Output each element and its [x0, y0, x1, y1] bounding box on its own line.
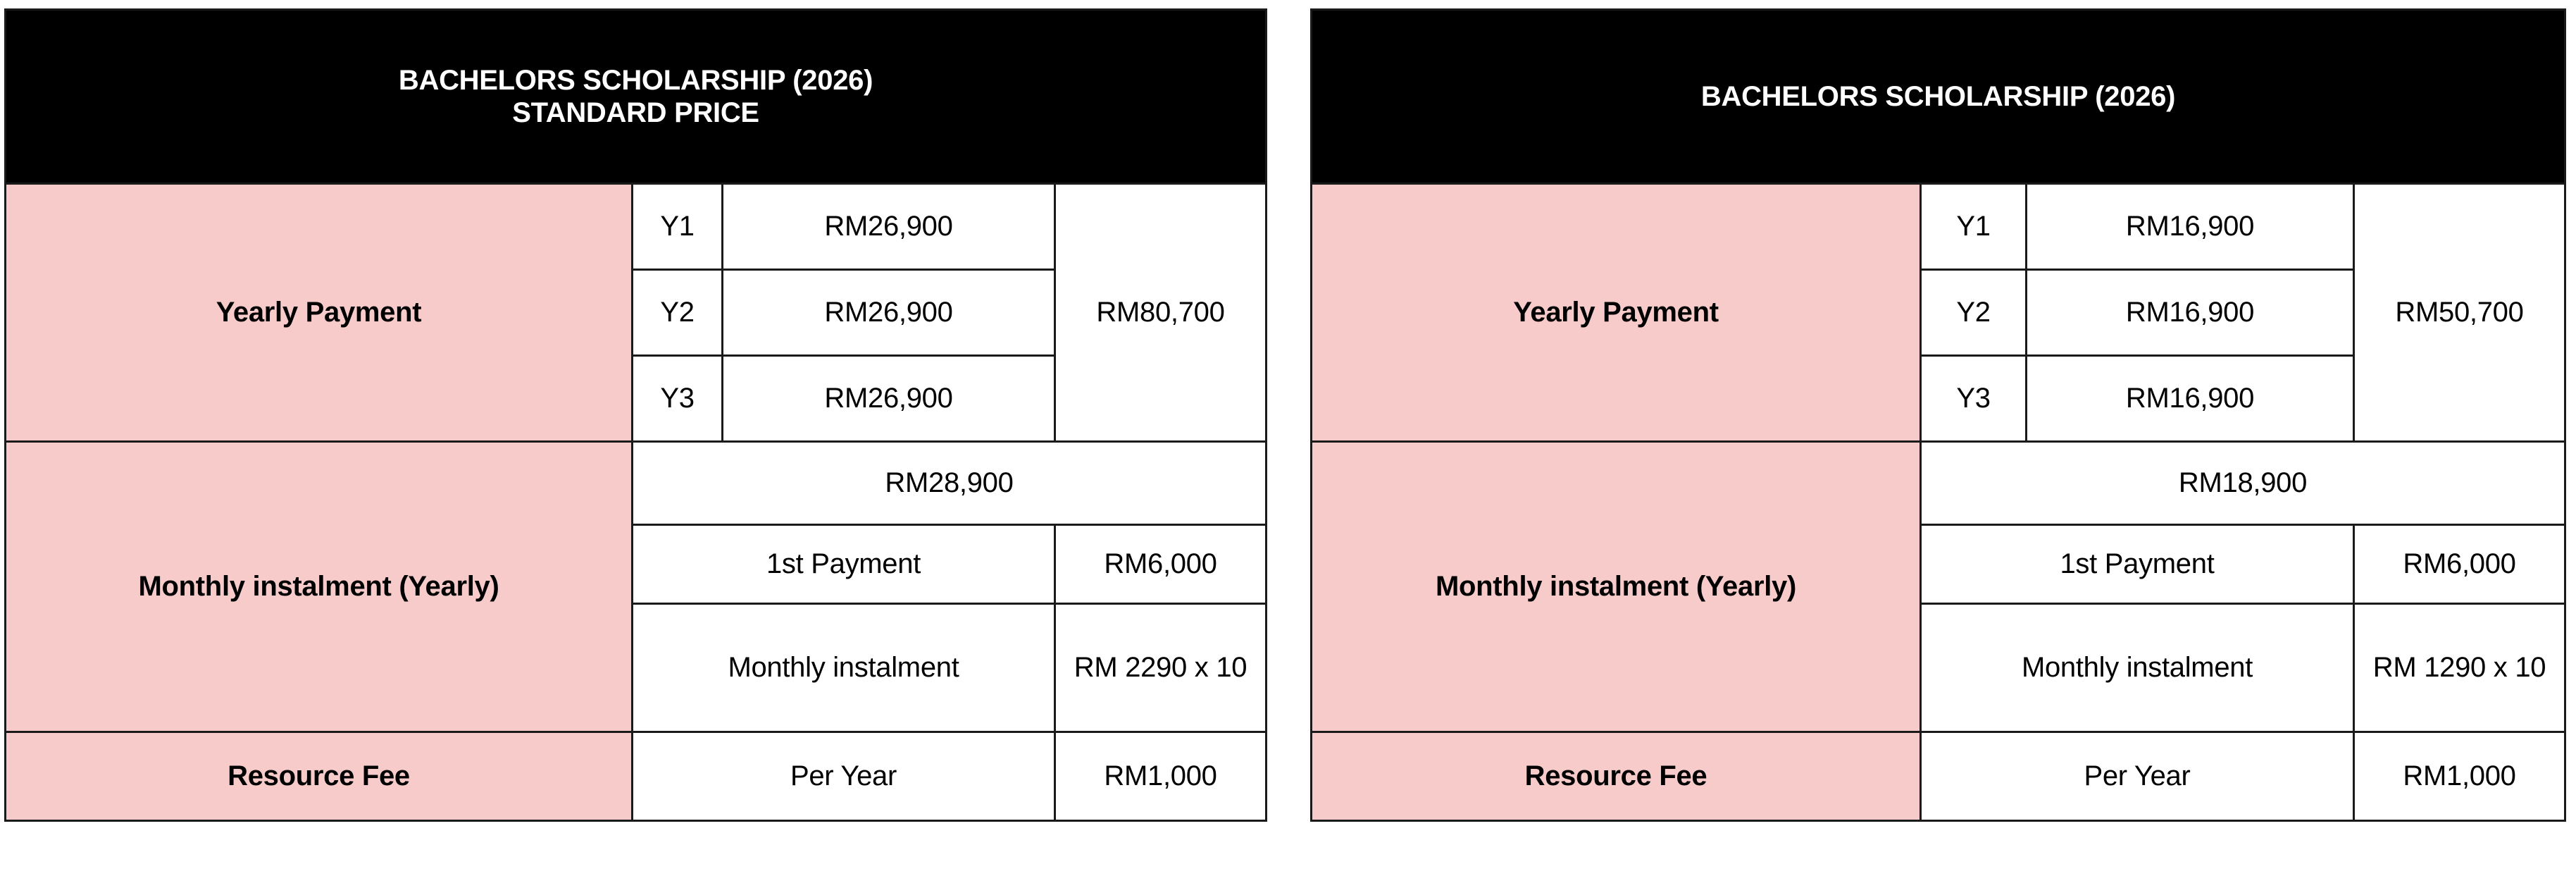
monthly-instalment-label: Monthly instalment (Yearly) — [6, 442, 633, 732]
year-label-y1: Y1 — [633, 184, 723, 270]
table-title-line-1: BACHELORS SCHOLARSHIP (2026) — [13, 64, 1258, 97]
year-amount-y2: RM16,900 — [2027, 270, 2354, 356]
table-title: BACHELORS SCHOLARSHIP (2026) — [1312, 10, 2565, 184]
yearly-payment-total: RM50,700 — [2354, 184, 2565, 442]
scholarship-price-fee-table: BACHELORS SCHOLARSHIP (2026) Yearly Paym… — [1310, 8, 2566, 822]
resource-fee-amount: RM1,000 — [1055, 732, 1267, 821]
table-title-line-1: BACHELORS SCHOLARSHIP (2026) — [1319, 80, 2557, 113]
year-label-y2: Y2 — [1921, 270, 2027, 356]
year-label-y3: Y3 — [633, 356, 723, 442]
table-row: Monthly instalment (Yearly) RM28,900 — [6, 442, 1267, 525]
yearly-payment-label: Yearly Payment — [1312, 184, 1921, 442]
table-row: Monthly instalment (Yearly) RM18,900 — [1312, 442, 2565, 525]
year-label-y3: Y3 — [1921, 356, 2027, 442]
year-label-y1: Y1 — [1921, 184, 2027, 270]
first-payment-label: 1st Payment — [1921, 525, 2354, 604]
table-row: Yearly Payment Y1 RM16,900 RM50,700 — [1312, 184, 2565, 270]
year-amount-y1: RM16,900 — [2027, 184, 2354, 270]
year-amount-y1: RM26,900 — [723, 184, 1055, 270]
yearly-payment-label: Yearly Payment — [6, 184, 633, 442]
monthly-instalment-sublabel: Monthly instalment — [1921, 604, 2354, 732]
resource-fee-amount: RM1,000 — [2354, 732, 2565, 821]
year-label-y2: Y2 — [633, 270, 723, 356]
table-row: Resource Fee Per Year RM1,000 — [1312, 732, 2565, 821]
resource-fee-period: Per Year — [633, 732, 1055, 821]
resource-fee-label: Resource Fee — [1312, 732, 1921, 821]
yearly-payment-total: RM80,700 — [1055, 184, 1267, 442]
table-row: Resource Fee Per Year RM1,000 — [6, 732, 1267, 821]
monthly-instalment-amount: RM 2290 x 10 — [1055, 604, 1267, 732]
first-payment-amount: RM6,000 — [2354, 525, 2565, 604]
first-payment-amount: RM6,000 — [1055, 525, 1267, 604]
table-title-row: BACHELORS SCHOLARSHIP (2026) STANDARD PR… — [6, 10, 1267, 184]
year-amount-y2: RM26,900 — [723, 270, 1055, 356]
year-amount-y3: RM26,900 — [723, 356, 1055, 442]
resource-fee-period: Per Year — [1921, 732, 2354, 821]
table-title: BACHELORS SCHOLARSHIP (2026) STANDARD PR… — [6, 10, 1267, 184]
monthly-instalment-label: Monthly instalment (Yearly) — [1312, 442, 1921, 732]
table-title-line-2: STANDARD PRICE — [13, 97, 1258, 129]
resource-fee-label: Resource Fee — [6, 732, 633, 821]
standard-price-fee-table: BACHELORS SCHOLARSHIP (2026) STANDARD PR… — [4, 8, 1267, 822]
monthly-instalment-amount: RM 1290 x 10 — [2354, 604, 2565, 732]
fee-comparison-sheet: BACHELORS SCHOLARSHIP (2026) STANDARD PR… — [0, 0, 2576, 888]
monthly-instalment-sublabel: Monthly instalment — [633, 604, 1055, 732]
monthly-yearly-total: RM28,900 — [633, 442, 1267, 525]
year-amount-y3: RM16,900 — [2027, 356, 2354, 442]
monthly-yearly-total: RM18,900 — [1921, 442, 2565, 525]
table-title-row: BACHELORS SCHOLARSHIP (2026) — [1312, 10, 2565, 184]
first-payment-label: 1st Payment — [633, 525, 1055, 604]
table-row: Yearly Payment Y1 RM26,900 RM80,700 — [6, 184, 1267, 270]
